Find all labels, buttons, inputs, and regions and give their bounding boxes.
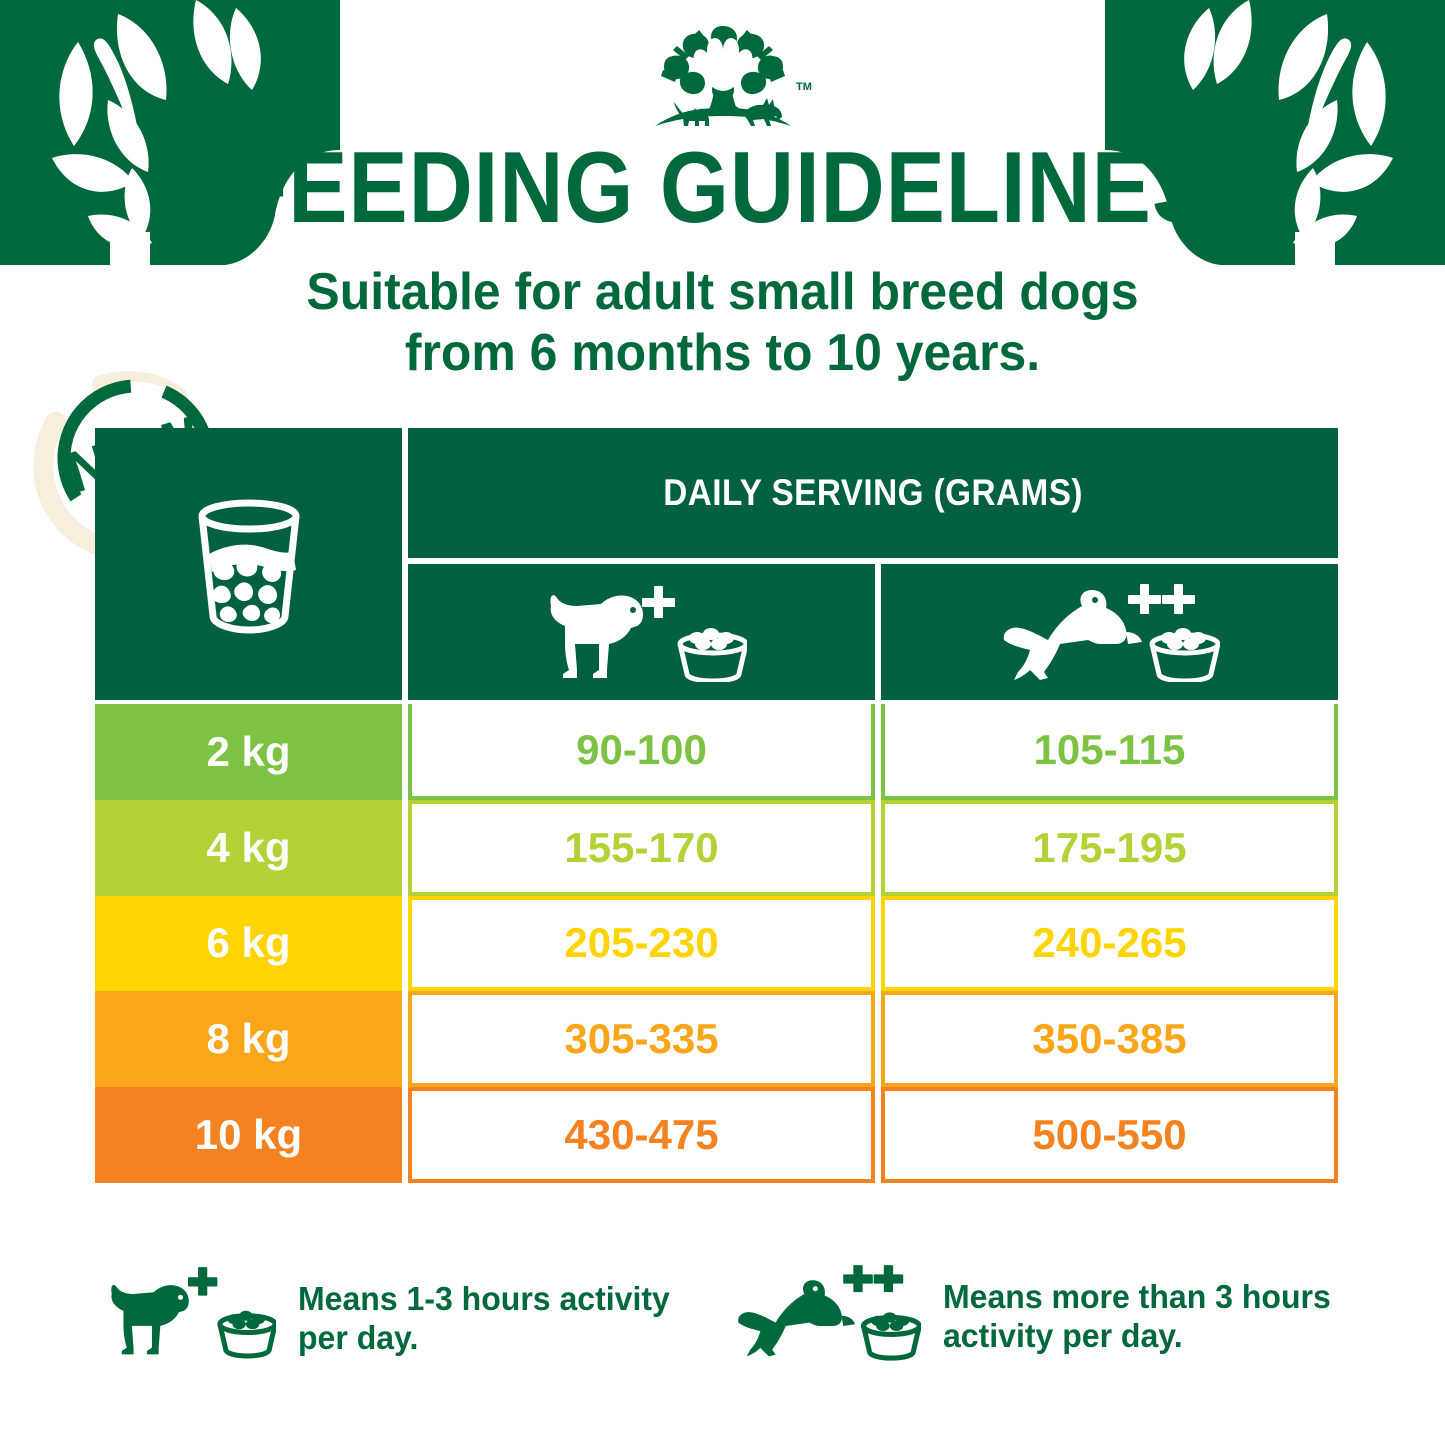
low-activity-value-cell: 155-170 — [408, 800, 875, 896]
legend-line-2: activity per day. — [943, 1317, 1331, 1356]
standing-dog-bowl-icon — [537, 582, 747, 682]
measuring-cup-header-cell — [95, 428, 402, 700]
table-rows: 2 kg90-100105-1154 kg155-170175-1956 kg2… — [95, 704, 1338, 1183]
high-activity-value-cell: 240-265 — [881, 896, 1338, 992]
table-row: 6 kg205-230240-265 — [95, 896, 1338, 992]
legend-line-1: Means 1-3 hours activity — [298, 1280, 670, 1319]
high-activity-value-cell: 105-115 — [881, 704, 1338, 800]
daily-serving-header: DAILY SERVING (GRAMS) — [408, 428, 1338, 558]
low-activity-value-cell: 305-335 — [408, 991, 875, 1087]
jumping-dog-bowl-icon — [1000, 582, 1220, 682]
low-activity-value-cell: 90-100 — [408, 704, 875, 800]
high-activity-header-cell — [881, 564, 1338, 700]
low-activity-value-cell: 430-475 — [408, 1087, 875, 1183]
low-activity-header-cell — [408, 564, 875, 700]
tree-paw-logo: TM — [633, 22, 813, 144]
measuring-cup-icon — [185, 494, 313, 634]
subtitle-line-1: Suitable for adult small breed dogs — [29, 262, 1416, 323]
legend-line-2: per day. — [298, 1319, 670, 1358]
legend-text-low-activity: Means 1-3 hours activity per day. — [298, 1260, 670, 1358]
weight-cell: 8 kg — [95, 991, 402, 1087]
legend-item-high-activity: Means more than 3 hours activity per day… — [735, 1258, 1343, 1366]
table-row: 4 kg155-170175-195 — [95, 800, 1338, 896]
weight-cell: 4 kg — [95, 800, 402, 896]
high-activity-value-cell: 350-385 — [881, 991, 1338, 1087]
weight-cell: 10 kg — [95, 1087, 402, 1183]
legend-text-high-activity: Means more than 3 hours activity per day… — [943, 1258, 1331, 1356]
page-title: FEEDING GUIDELINES — [87, 138, 1359, 239]
table-row: 2 kg90-100105-115 — [95, 704, 1338, 800]
jumping-dog-bowl-icon — [735, 1258, 921, 1366]
standing-dog-bowl-icon — [100, 1260, 276, 1364]
table-row: 10 kg430-475500-550 — [95, 1087, 1338, 1183]
low-activity-value-cell: 205-230 — [408, 896, 875, 992]
daily-serving-label: DAILY SERVING (GRAMS) — [663, 472, 1083, 514]
activity-legend: Means 1-3 hours activity per day. — [0, 1258, 1445, 1398]
trademark-mark: TM — [796, 81, 812, 93]
high-activity-value-cell: 175-195 — [881, 800, 1338, 896]
feeding-table: DAILY SERVING (GRAMS) — [95, 428, 1338, 1183]
table-row: 8 kg305-335350-385 — [95, 991, 1338, 1087]
infographic-page: TM FEEDING GUIDELINES Suitable for adult… — [0, 0, 1445, 1445]
high-activity-value-cell: 500-550 — [881, 1087, 1338, 1183]
legend-line-1: Means more than 3 hours — [943, 1278, 1331, 1317]
weight-cell: 6 kg — [95, 896, 402, 992]
legend-item-low-activity: Means 1-3 hours activity per day. — [100, 1260, 681, 1364]
weight-cell: 2 kg — [95, 704, 402, 800]
